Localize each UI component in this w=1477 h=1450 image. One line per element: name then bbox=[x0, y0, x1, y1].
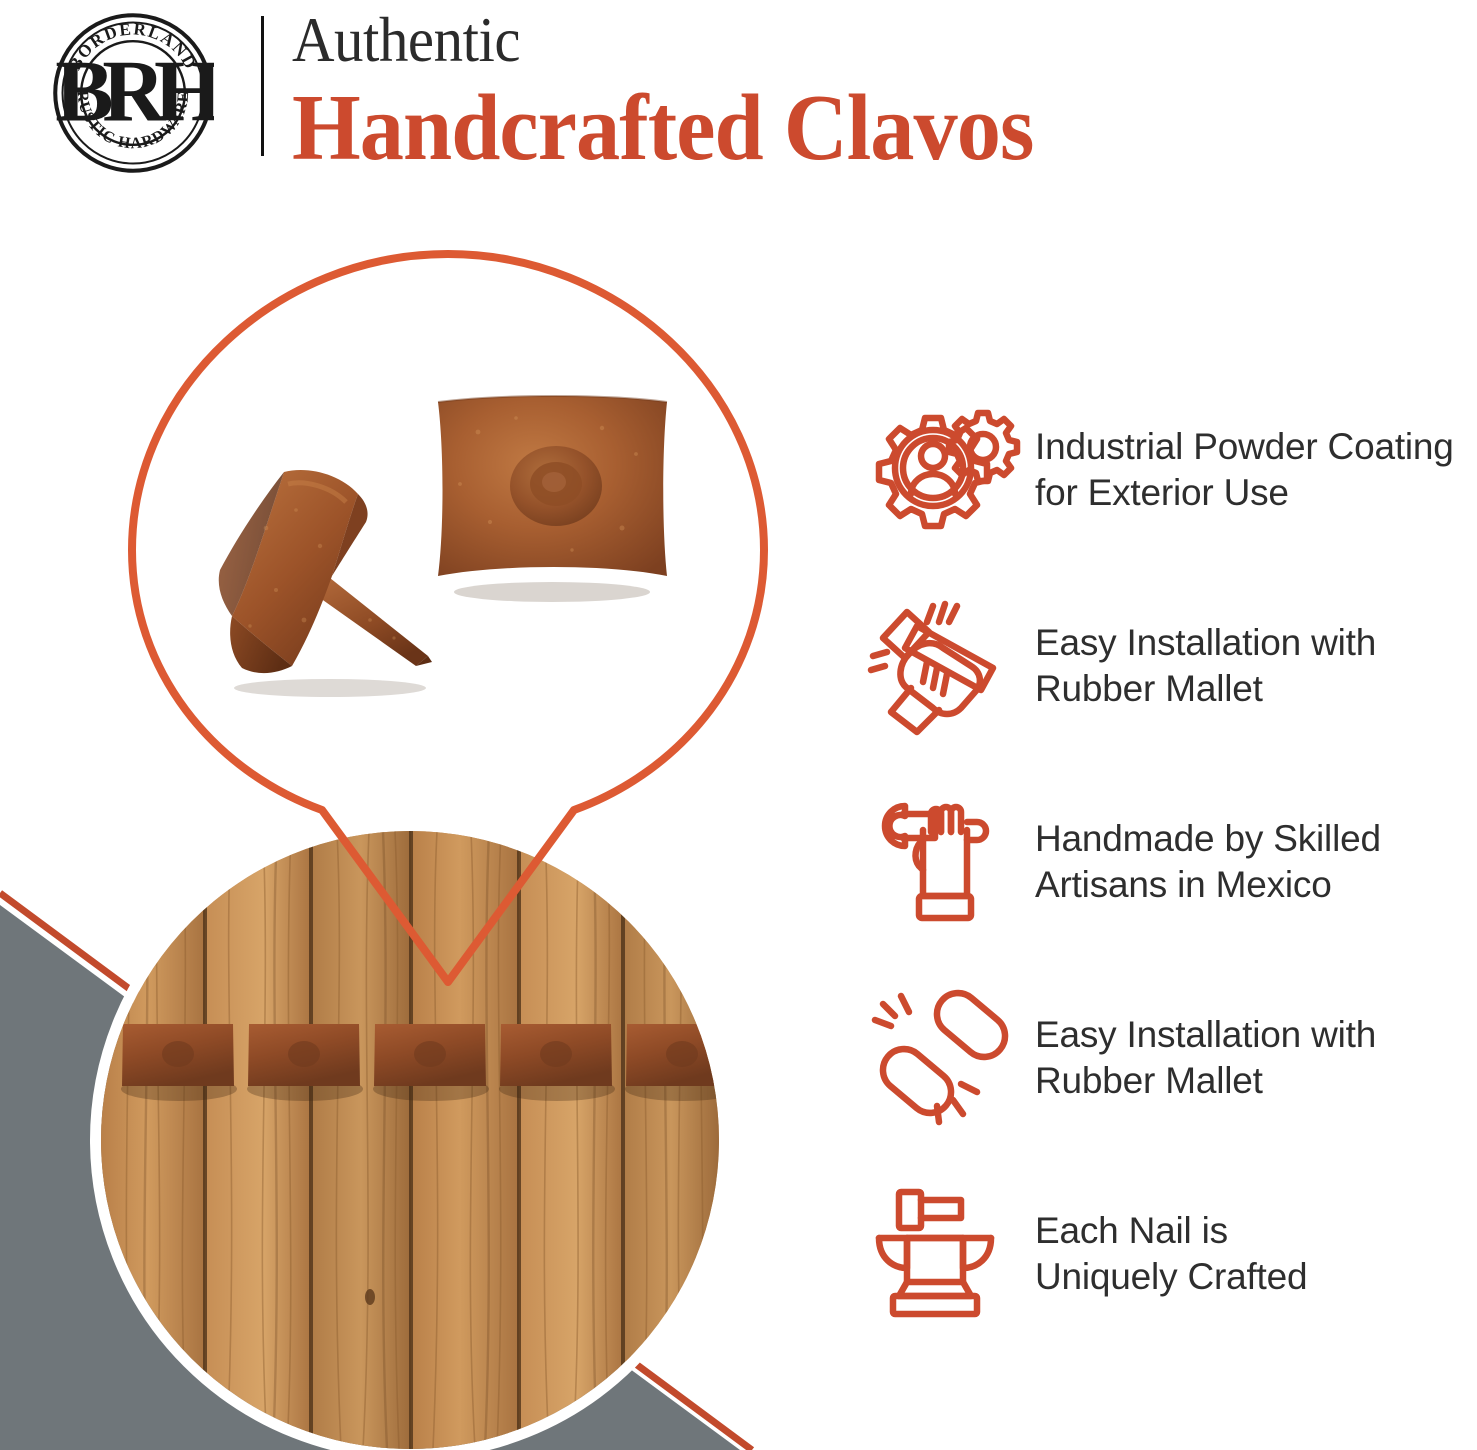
feature-label-line-1: Easy Installation with bbox=[1035, 622, 1376, 663]
header-divider bbox=[261, 16, 264, 156]
fist-wrench-icon bbox=[855, 792, 1035, 932]
feature-row: Easy Installation with Rubber Mallet bbox=[855, 960, 1477, 1156]
clavo-angled-view bbox=[180, 450, 440, 710]
feature-label-line-2: Artisans in Mexico bbox=[1035, 862, 1477, 908]
feature-label-line-1: Industrial Powder Coating bbox=[1035, 426, 1454, 467]
feature-label-line-2: for Exterior Use bbox=[1035, 470, 1477, 516]
feature-label-line-2: Rubber Mallet bbox=[1035, 666, 1477, 712]
chain-links-icon bbox=[855, 988, 1035, 1128]
feature-row: Easy Installation with Rubber Mallet bbox=[855, 568, 1477, 764]
brand-logo: BORDERLAND RUSTIC HARDWARE BRH bbox=[52, 12, 214, 174]
installed-clavo-group bbox=[121, 1024, 719, 1101]
logo-monogram: BRH bbox=[55, 43, 214, 140]
feature-row: Industrial Powder Coating for Exterior U… bbox=[855, 372, 1477, 568]
product-visual-group bbox=[0, 200, 840, 1450]
feature-label-line-2: Uniquely Crafted bbox=[1035, 1254, 1477, 1300]
feature-label-line-2: Rubber Mallet bbox=[1035, 1058, 1477, 1104]
feature-label-line-1: Each Nail is bbox=[1035, 1210, 1228, 1251]
feature-label: Easy Installation with Rubber Mallet bbox=[1035, 620, 1477, 712]
clavo-front-view bbox=[430, 380, 675, 610]
anvil-hammer-icon bbox=[855, 1184, 1035, 1324]
hand-mallet-icon bbox=[855, 596, 1035, 736]
seal-logo-icon: BORDERLAND RUSTIC HARDWARE BRH bbox=[52, 12, 214, 174]
gears-person-icon bbox=[855, 400, 1035, 540]
page-header: BORDERLAND RUSTIC HARDWARE BRH Authentic… bbox=[0, 0, 1477, 190]
title-block: Authentic Handcrafted Clavos bbox=[292, 4, 1452, 178]
feature-label: Each Nail is Uniquely Crafted bbox=[1035, 1208, 1477, 1300]
feature-row: Handmade by Skilled Artisans in Mexico bbox=[855, 764, 1477, 960]
feature-label-line-1: Handmade by Skilled bbox=[1035, 818, 1381, 859]
infographic-canvas: BORDERLAND RUSTIC HARDWARE BRH Authentic… bbox=[0, 0, 1477, 1450]
page-title-line-2: Handcrafted Clavos bbox=[292, 78, 1382, 178]
page-title-line-1: Authentic bbox=[292, 4, 1359, 76]
feature-label-line-1: Easy Installation with bbox=[1035, 1014, 1376, 1055]
feature-label: Easy Installation with Rubber Mallet bbox=[1035, 1012, 1477, 1104]
feature-row: Each Nail is Uniquely Crafted bbox=[855, 1156, 1477, 1352]
features-list: Industrial Powder Coating for Exterior U… bbox=[855, 372, 1477, 1352]
feature-label: Industrial Powder Coating for Exterior U… bbox=[1035, 424, 1477, 516]
feature-label: Handmade by Skilled Artisans in Mexico bbox=[1035, 816, 1477, 908]
